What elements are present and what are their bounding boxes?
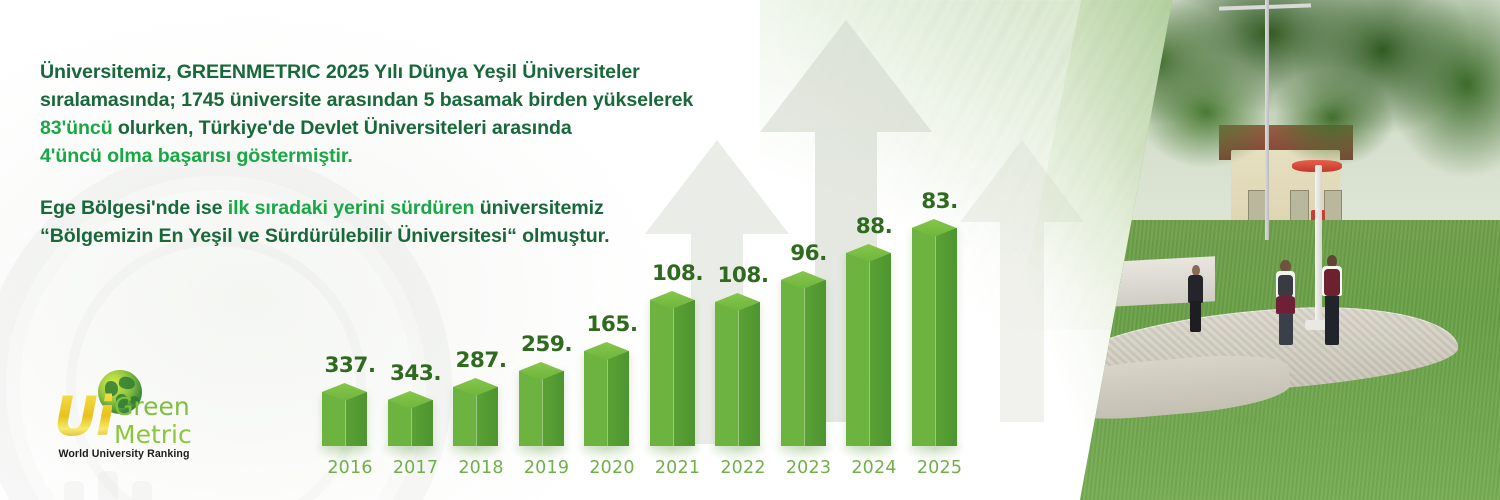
- chart-bar-group[interactable]: 337.2016: [318, 200, 382, 480]
- street-light-pole: [1265, 0, 1269, 240]
- ui-greenmetric-logo: Ui Green Metric World University Ranking: [42, 368, 202, 472]
- bar-year-label: 2019: [515, 458, 579, 478]
- seal-bar-center: [98, 471, 118, 500]
- copy-segment: olurken, Türkiye'de Devlet Üniversiteler…: [113, 117, 572, 139]
- copy-line: 83'üncü olurken, Türkiye'de Devlet Ünive…: [40, 114, 800, 142]
- chart-bar-group[interactable]: 88.2024: [842, 200, 906, 480]
- bar-3d[interactable]: [912, 228, 957, 446]
- bar-3d[interactable]: [388, 400, 433, 446]
- bar-value-label: 96.: [777, 241, 841, 266]
- bar-year-label: 2016: [318, 458, 382, 478]
- backpack: [1278, 275, 1293, 297]
- bar-year-label: 2023: [777, 458, 841, 478]
- chart-bar-group[interactable]: 108.2022: [711, 200, 775, 480]
- bar-body: [781, 280, 826, 446]
- bar-body: [519, 371, 564, 446]
- bar-value-label: 108.: [711, 263, 775, 288]
- bar-value-label: 83.: [908, 189, 972, 214]
- person-legs: [1325, 296, 1340, 345]
- copy-segment: Ege Bölgesi'nde ise: [40, 197, 228, 219]
- bar-value-label: 88.: [842, 214, 906, 239]
- bar-3d[interactable]: [453, 387, 498, 446]
- bar-value-label: 259.: [515, 332, 579, 357]
- logo-word-metric: Metric: [114, 422, 192, 447]
- copy-line: sıralamasında; 1745 üniversite arasından…: [40, 86, 800, 114]
- copy-line: 4'üncü olma başarısı göstermiştir.: [40, 142, 800, 170]
- bar-year-label: 2020: [580, 458, 644, 478]
- bar-3d[interactable]: [519, 371, 564, 446]
- bar-body: [846, 253, 891, 446]
- person-legs: [1190, 301, 1201, 332]
- person-walking: [1181, 265, 1210, 335]
- bar-year-label: 2021: [646, 458, 710, 478]
- bar-year-label: 2022: [711, 458, 775, 478]
- copy-segment-highlight: 83'üncü: [40, 117, 113, 139]
- bar-year-label: 2024: [842, 458, 906, 478]
- bar-year-label: 2018: [449, 458, 513, 478]
- greenmetric-ranking-banner: Üniversitemiz, GREENMETRIC 2025 Yılı Dün…: [0, 0, 1500, 500]
- copy-line: Üniversitemiz, GREENMETRIC 2025 Yılı Dün…: [40, 58, 800, 86]
- bar-3d[interactable]: [781, 280, 826, 446]
- bar-3d[interactable]: [650, 300, 695, 446]
- person-walking: [1269, 260, 1303, 345]
- seal-bar-left: [64, 481, 84, 500]
- bar-value-label: 337.: [318, 353, 382, 378]
- globe-landmass: [118, 375, 136, 390]
- bar-3d[interactable]: [715, 302, 760, 446]
- logo-tagline: World University Ranking: [44, 448, 204, 460]
- person-legs: [1279, 313, 1292, 345]
- chart-bar-group[interactable]: 83.2025: [908, 200, 972, 480]
- bar-3d[interactable]: [846, 253, 891, 446]
- copy-segment: sıralamasında; 1745 üniversite arasından…: [40, 89, 693, 111]
- bar-value-label: 287.: [449, 348, 513, 373]
- chart-bar-group[interactable]: 108.2021: [646, 200, 710, 480]
- person-torso: [1188, 275, 1202, 303]
- logo-wordmark: Green Metric: [114, 394, 192, 447]
- chart-bar-group[interactable]: 343.2017: [384, 200, 448, 480]
- bar-year-label: 2017: [384, 458, 448, 478]
- paragraph-ranking: Üniversitemiz, GREENMETRIC 2025 Yılı Dün…: [40, 58, 800, 170]
- chart-bar-group[interactable]: 165.2020: [580, 200, 644, 480]
- logo-ui-mark: Ui: [54, 390, 112, 444]
- bar-3d[interactable]: [584, 351, 629, 446]
- logo-word-green: Green: [114, 392, 190, 421]
- ranking-bar-chart: 337.2016343.2017287.2018259.2019165.2020…: [318, 200, 1018, 480]
- bar-value-label: 165.: [580, 312, 644, 337]
- person-skirt: [1276, 296, 1295, 315]
- bar-body: [912, 228, 957, 446]
- bar-3d[interactable]: [322, 392, 367, 446]
- seal-bar-right: [132, 481, 152, 500]
- bar-value-label: 108.: [646, 261, 710, 286]
- chart-bar-group[interactable]: 287.2018: [449, 200, 513, 480]
- bar-value-label: 343.: [384, 361, 448, 386]
- bar-year-label: 2025: [908, 458, 972, 478]
- bar-body: [650, 300, 695, 446]
- chart-bar-group[interactable]: 96.2023: [777, 200, 841, 480]
- person-walking: [1315, 255, 1349, 345]
- copy-segment: Üniversitemiz, GREENMETRIC 2025 Yılı Dün…: [40, 61, 640, 83]
- chart-bar-group[interactable]: 259.2019: [515, 200, 579, 480]
- bar-body: [715, 302, 760, 446]
- bar-body: [584, 351, 629, 446]
- copy-segment-highlight: 4'üncü olma başarısı göstermiştir.: [40, 145, 353, 167]
- backpack: [1324, 269, 1340, 296]
